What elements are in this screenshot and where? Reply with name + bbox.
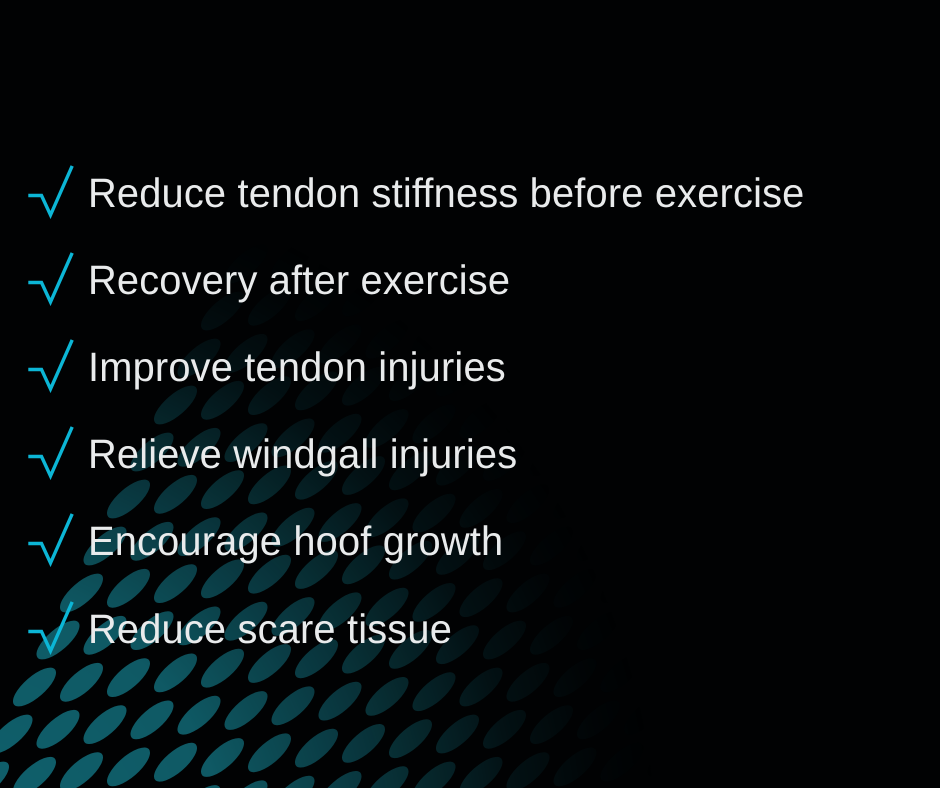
checklist-item-label: Relieve windgall injuries: [88, 434, 517, 475]
checklist-item-label: Improve tendon injuries: [88, 347, 506, 388]
radical-check-icon: [26, 338, 78, 396]
radical-check-icon: [26, 251, 78, 309]
checklist-item: Encourage hoof growth: [26, 509, 516, 573]
radical-check-icon: [26, 512, 78, 570]
checklist-item: Improve tendon injuries: [26, 335, 519, 399]
slide-canvas: Reduce tendon stiffness before exerciseR…: [0, 0, 940, 788]
radical-check-icon: [26, 425, 78, 483]
checklist-item-label: Reduce scare tissue: [88, 609, 452, 650]
checklist-item: Recovery after exercise: [26, 248, 523, 312]
checklist-item: Reduce tendon stiffness before exercise: [26, 161, 827, 225]
radical-check-icon: [26, 164, 78, 222]
radical-check-icon: [26, 600, 78, 658]
checklist-item: Relieve windgall injuries: [26, 422, 531, 486]
checklist-item-label: Reduce tendon stiffness before exercise: [88, 173, 804, 214]
checklist-item-label: Recovery after exercise: [88, 260, 510, 301]
checklist-item-label: Encourage hoof growth: [88, 521, 503, 562]
checklist-item: Reduce scare tissue: [26, 597, 463, 661]
